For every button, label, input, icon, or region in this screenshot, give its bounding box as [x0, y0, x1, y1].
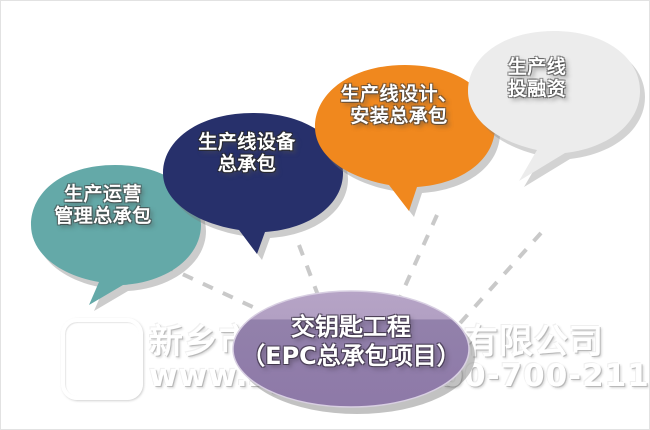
center-node-label: 交钥匙工程 （EPC总承包项目）: [229, 313, 473, 372]
bubble-financing-label: 生产线 投融资: [471, 56, 603, 101]
diagram-canvas: 新乡市同力重型机械有限公司 www.zydlks.com 400-700-211…: [0, 0, 650, 430]
bubble-equipment-label: 生产线设备 总承包: [161, 131, 333, 176]
bubble-operations-label: 生产运营 管理总承包: [23, 183, 183, 228]
bubble-design-install-label: 生产线设计、 安装总承包: [311, 83, 487, 128]
